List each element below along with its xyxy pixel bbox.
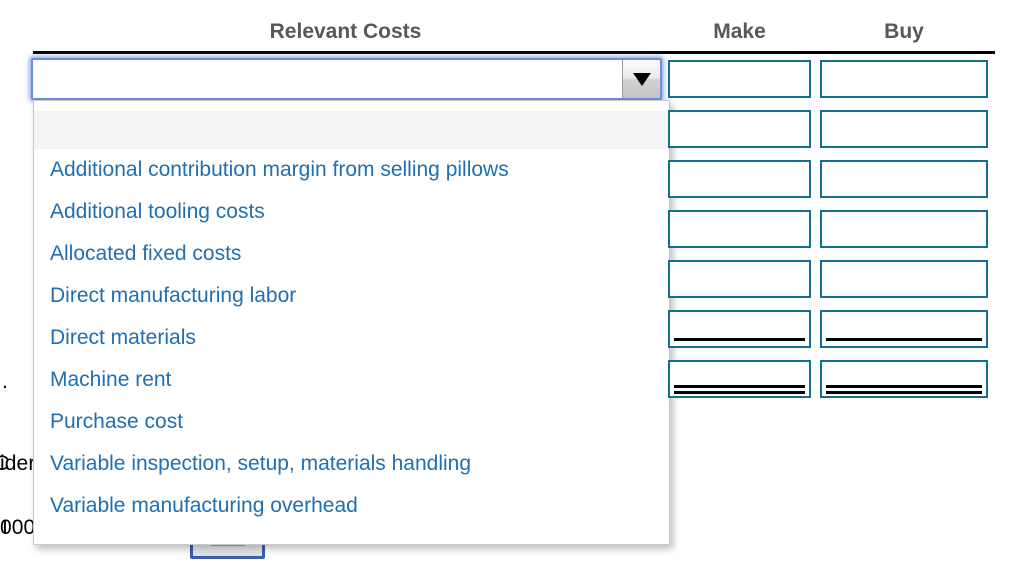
background-sliver-period: . [2, 370, 8, 394]
buy-input-value-row-2 [822, 112, 986, 126]
column-header-buy: Buy [820, 20, 988, 44]
make-input-row-1[interactable] [668, 60, 811, 98]
dropdown-option-0[interactable] [34, 101, 669, 149]
total-rule-upper-buy-row-7 [826, 385, 982, 388]
total-rule-upper-make-row-7 [674, 385, 805, 388]
make-input-row-4[interactable] [668, 210, 811, 248]
buy-input-row-5[interactable] [820, 260, 988, 298]
dropdown-option-1[interactable]: Additional contribution margin from sell… [34, 149, 669, 191]
make-input-value-row-3 [670, 162, 809, 176]
chevron-down-icon [633, 73, 651, 86]
make-input-row-6[interactable] [668, 310, 811, 348]
dropdown-option-5[interactable]: Direct materials [34, 317, 669, 359]
buy-input-value-row-4 [822, 212, 986, 226]
make-input-row-3[interactable] [668, 160, 811, 198]
make-input-row-5[interactable] [668, 260, 811, 298]
make-input-value-row-5 [670, 262, 809, 276]
column-header-relevant-costs: Relevant Costs [33, 20, 658, 44]
subtotal-rule-make-row-6 [674, 338, 805, 341]
worksheet-canvas: Relevant Costs Make Buy ider make or buy… [0, 0, 1018, 568]
make-input-value-row-2 [670, 112, 809, 126]
combobox-dropdown-arrow-button[interactable] [622, 60, 660, 98]
dropdown-option-8[interactable]: Variable inspection, setup, materials ha… [34, 443, 669, 485]
buy-input-value-row-5 [822, 262, 986, 276]
dropdown-option-2[interactable]: Additional tooling costs [34, 191, 669, 233]
buy-input-row-1[interactable] [820, 60, 988, 98]
buy-input-value-row-7 [822, 362, 986, 376]
buy-input-row-6[interactable] [820, 310, 988, 348]
buy-input-row-2[interactable] [820, 110, 988, 148]
buy-input-value-row-6 [822, 312, 986, 326]
background-sliver-i: I [2, 516, 8, 540]
dropdown-option-7[interactable]: Purchase cost [34, 401, 669, 443]
total-rule-lower-make-row-7 [674, 391, 805, 394]
subtotal-rule-buy-row-6 [826, 338, 982, 341]
dropdown-option-3[interactable]: Allocated fixed costs [34, 233, 669, 275]
buy-input-value-row-3 [822, 162, 986, 176]
column-header-make: Make [668, 20, 811, 44]
make-input-value-row-4 [670, 212, 809, 226]
buy-input-value-row-1 [822, 62, 986, 76]
relevant-costs-combobox[interactable] [31, 58, 662, 100]
relevant-costs-dropdown-list[interactable]: Additional contribution margin from sell… [33, 100, 670, 545]
dropdown-option-6[interactable]: Machine rent [34, 359, 669, 401]
make-input-value-row-1 [670, 62, 809, 76]
total-rule-lower-buy-row-7 [826, 391, 982, 394]
make-input-value-row-6 [670, 312, 809, 326]
dropdown-option-4[interactable]: Direct manufacturing labor [34, 275, 669, 317]
dropdown-option-9[interactable]: Variable manufacturing overhead [34, 485, 669, 527]
buy-input-row-4[interactable] [820, 210, 988, 248]
buy-input-row-3[interactable] [820, 160, 988, 198]
make-input-row-2[interactable] [668, 110, 811, 148]
background-sliver-c: C [0, 452, 9, 476]
make-input-value-row-7 [670, 362, 809, 376]
header-divider-rule [33, 51, 995, 54]
